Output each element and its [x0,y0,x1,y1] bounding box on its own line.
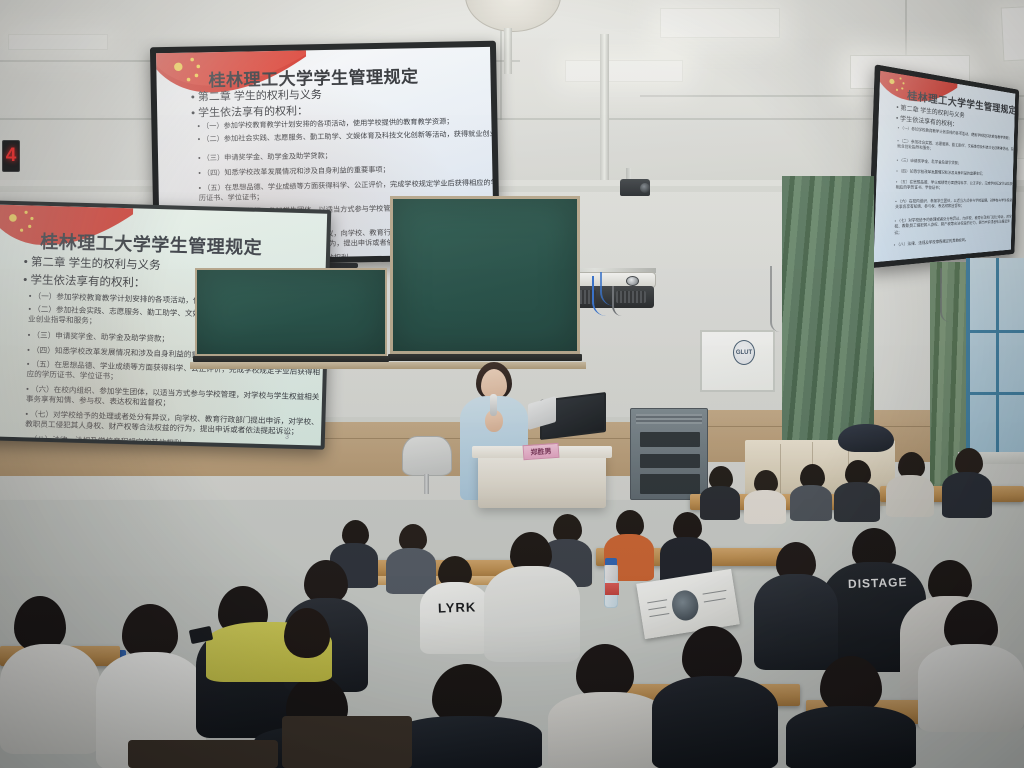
torso [652,676,778,768]
torso [790,485,832,521]
audience-member [484,532,580,658]
handout-line [704,598,726,602]
right-tv-display[interactable]: 桂林理工大学学生管理规定 第二章 学生的权利与义务 学生依法享有的权利： • （… [868,64,1019,268]
audience-member [276,608,346,680]
green-chalkboard [390,196,580,354]
ceiling-drop-pole [504,28,512,74]
led-sign-text: 4 [6,145,17,167]
window-mullion [996,258,999,454]
seat-back [128,740,278,768]
audience-member [886,452,934,516]
emblem-text: GLUT [736,350,752,356]
microphone [490,394,497,416]
chair[interactable] [402,436,452,494]
podium-name-card: 郑胜男 [523,443,560,460]
audience-member [744,470,786,522]
lectern[interactable] [478,452,606,508]
torso [834,482,880,522]
audience-member [918,600,1024,730]
projector-power-cable [612,286,632,316]
green-chalkboard [195,268,387,356]
ceiling-light [1001,3,1024,62]
chair-seat [402,436,452,476]
audience-member [652,626,778,768]
camera-lens [640,183,650,193]
torso [786,706,916,768]
ceiling-light [660,8,780,38]
name-card-text: 郑胜男 [530,446,552,457]
torso [886,475,934,517]
window [966,258,1024,454]
rack-device [640,454,700,468]
bottle-cap [605,558,617,565]
university-emblem: GLUT [733,340,755,365]
audience-member [786,656,916,768]
wall-camera [620,168,654,198]
torso [0,644,100,754]
bottle-label [605,583,619,595]
window-mullion [966,330,1024,333]
audience-member [700,466,740,518]
slide-surface: 桂林理工大学学生管理规定 第二章 学生的权利与义务 学生依法享有的权利： • （… [874,71,1016,263]
rack-device [640,432,700,447]
torso [942,472,992,518]
screen-glare [874,71,1016,263]
audience-member [548,644,668,768]
handout-line [703,590,727,595]
shirt-text-lyrk: LYRK [438,599,477,615]
torso [420,582,490,654]
audience-member [392,664,542,768]
torso [918,644,1024,732]
handout-image [670,589,700,623]
lecture-hall-photo: 4 桂林理工大学学生管理规定 第二章 学生的权利与义务 [0,0,1024,768]
torso [548,692,668,768]
ceiling-light [8,34,108,50]
projector-lens [626,276,639,286]
handout-line [649,613,669,617]
led-sign: 4 [2,140,20,172]
ceiling-light [565,60,683,82]
backpack [838,424,894,452]
head [284,608,330,658]
rack-vent [636,414,702,424]
handout-line [647,599,667,603]
audience-member [834,460,880,520]
wall-cable [770,266,780,332]
seat-back [282,716,412,768]
torso [392,716,542,768]
water-bottle [604,564,618,608]
window-mullion [966,392,1024,395]
shirt-text-distage: DISTAGE [848,575,908,591]
audience-member [790,464,832,520]
chair-pole [424,474,429,494]
window-mullion [966,258,970,454]
audience-member [0,596,100,746]
torso [744,490,786,524]
rack-device [640,474,700,494]
handout-line [648,606,666,610]
window-cable [940,268,956,322]
chalkboard-tray [388,354,582,361]
audience-member [942,448,992,516]
